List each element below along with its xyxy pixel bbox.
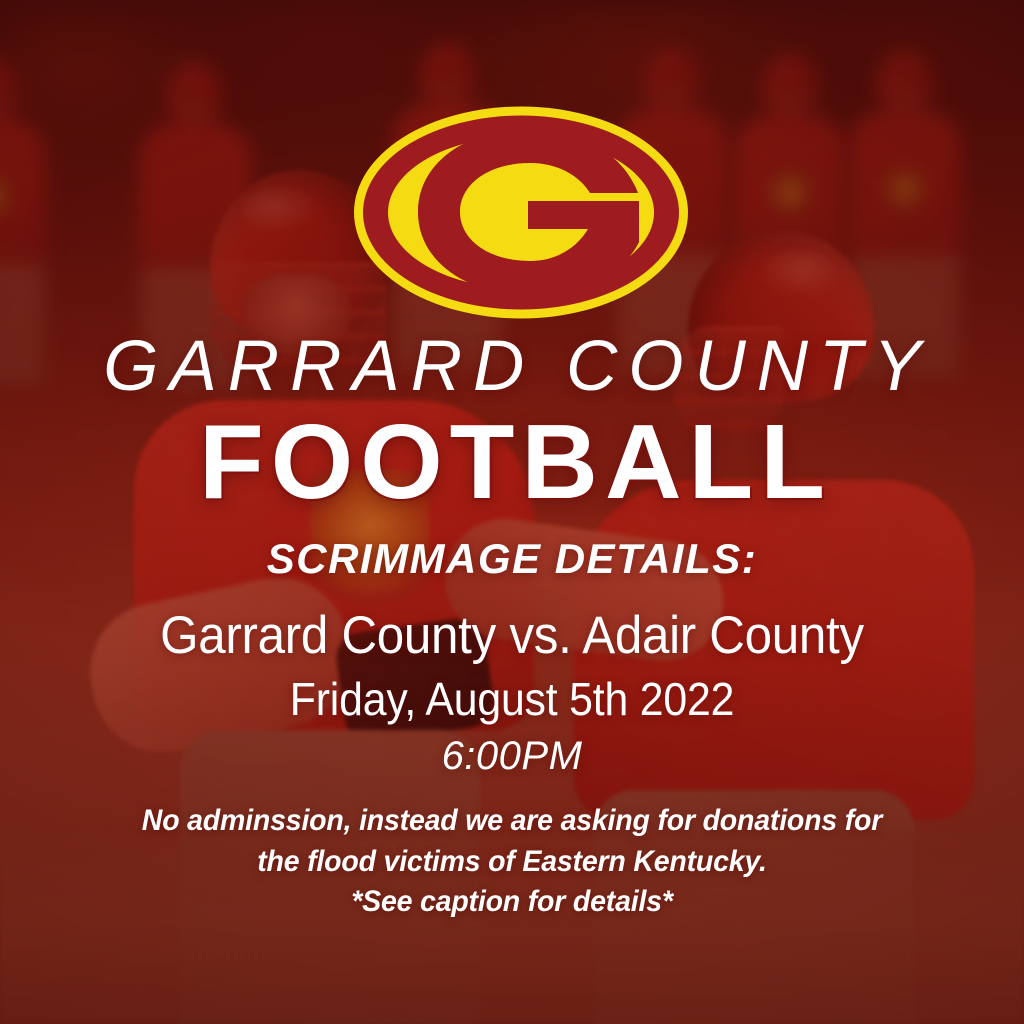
note-line-3: *See caption for details* — [26, 882, 999, 923]
page-title: GARRARD COUNTY — [0, 330, 1024, 403]
note-line-2: the flood victims of Eastern Kentucky. — [26, 842, 999, 883]
event-time: 6:00PM — [0, 734, 1024, 779]
poster-text-block: GARRARD COUNTY FOOTBALL SCRIMMAGE DETAIL… — [0, 330, 1024, 923]
sport-title: FOOTBALL — [0, 409, 1024, 515]
garrard-g-logo-icon — [352, 105, 690, 320]
note-line-1: No adminssion, instead we are asking for… — [26, 801, 999, 842]
details-heading: SCRIMMAGE DETAILS: — [0, 535, 1024, 583]
admission-note: No adminssion, instead we are asking for… — [26, 801, 999, 923]
matchup-text: Garrard County vs. Adair County — [36, 605, 988, 666]
football-scrimmage-poster: GARRARD COUNTY FOOTBALL SCRIMMAGE DETAIL… — [0, 0, 1024, 1024]
event-date: Friday, August 5th 2022 — [36, 672, 988, 726]
team-logo — [352, 105, 690, 320]
